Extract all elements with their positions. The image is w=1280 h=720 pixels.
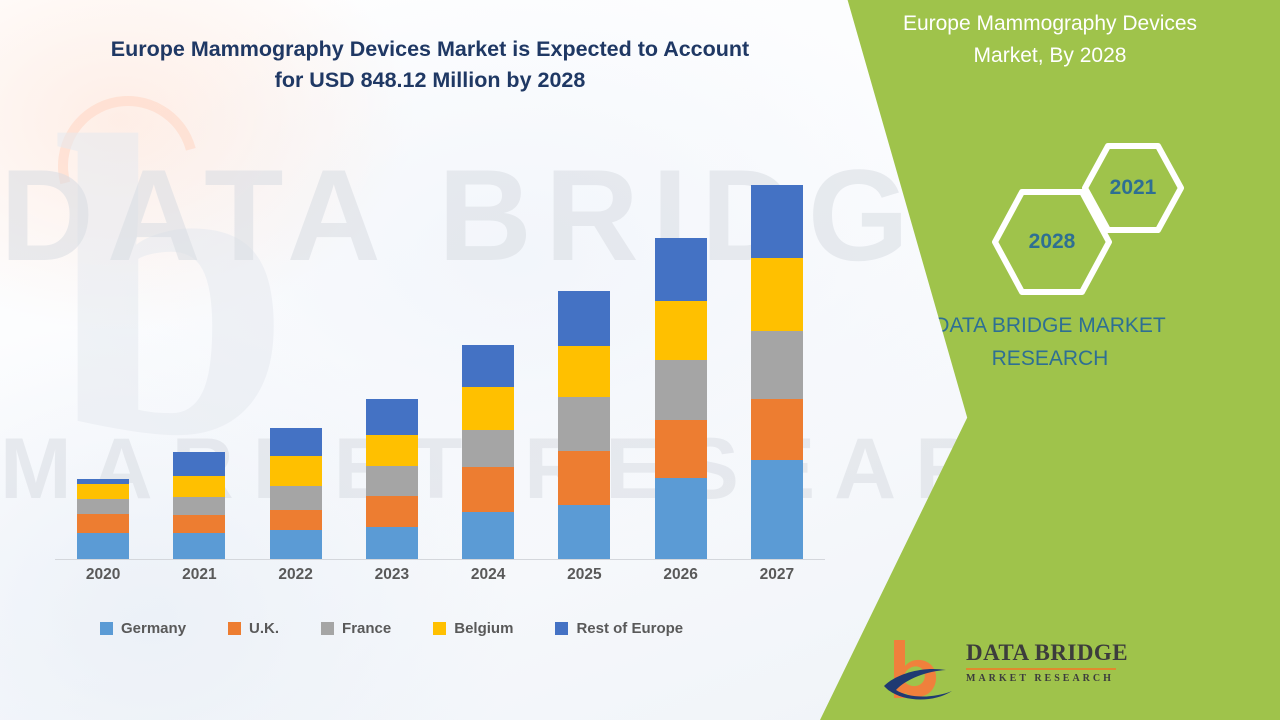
logo-wordmark: DATA BRIDGE MARKET RESEARCH (966, 640, 1116, 684)
bar-segment[interactable] (462, 387, 514, 430)
stacked-bar[interactable] (77, 479, 129, 559)
bar-slot (633, 151, 729, 559)
hexagon-badge-2028-label: 2028 (1029, 230, 1076, 254)
logo-sub-text: MARKET RESEARCH (966, 673, 1116, 684)
bar-segment[interactable] (558, 505, 610, 559)
bar-segment[interactable] (751, 460, 803, 559)
bar-segment[interactable] (270, 510, 322, 530)
x-axis-tick-2026: 2026 (633, 566, 729, 592)
bar-segment[interactable] (655, 301, 707, 360)
bar-segment[interactable] (366, 496, 418, 527)
bar-segment[interactable] (366, 435, 418, 466)
bar-segment[interactable] (270, 486, 322, 510)
legend-item-france[interactable]: France (321, 620, 391, 637)
bar-slot (536, 151, 632, 559)
logo-main-text: DATA BRIDGE (966, 640, 1116, 666)
bar-segment[interactable] (270, 428, 322, 456)
stacked-bar[interactable] (751, 185, 803, 559)
bar-segment[interactable] (173, 533, 225, 559)
bar-segment[interactable] (558, 451, 610, 505)
bar-segment[interactable] (77, 484, 129, 499)
bar-slot (151, 151, 247, 559)
bar-slot (440, 151, 536, 559)
bar-segment[interactable] (558, 397, 610, 451)
bar-segment[interactable] (751, 331, 803, 399)
stacked-bar[interactable] (558, 291, 610, 559)
panel-title-line-2: Market, By 2028 (848, 40, 1252, 72)
legend-label: France (342, 620, 391, 637)
bar-segment[interactable] (366, 527, 418, 559)
bar-segment[interactable] (655, 238, 707, 301)
stacked-bar[interactable] (366, 399, 418, 559)
chart-plot-area (55, 150, 825, 560)
bar-segment[interactable] (655, 478, 707, 559)
panel-title: Europe Mammography Devices Market, By 20… (820, 8, 1280, 71)
legend-item-rest-of-europe[interactable]: Rest of Europe (555, 620, 683, 637)
x-axis-tick-2025: 2025 (536, 566, 632, 592)
bar-segment[interactable] (270, 530, 322, 559)
hexagon-badge-2021-label: 2021 (1110, 176, 1157, 200)
bar-slot (55, 151, 151, 559)
legend-swatch-icon (321, 622, 334, 635)
legend-label: Belgium (454, 620, 513, 637)
bar-segment[interactable] (751, 258, 803, 331)
legend-item-u-k[interactable]: U.K. (228, 620, 279, 637)
stacked-bar[interactable] (173, 452, 225, 559)
stacked-bar[interactable] (655, 238, 707, 559)
x-axis-line (55, 559, 825, 561)
slide-canvas: b DATA BRIDGE MARKET RESEARCH Europe Mam… (0, 0, 1280, 720)
bar-segment[interactable] (173, 476, 225, 497)
bar-segment[interactable] (462, 512, 514, 559)
legend-label: Rest of Europe (576, 620, 683, 637)
panel-title-line-1: Europe Mammography Devices (848, 8, 1252, 40)
stacked-bar[interactable] (462, 345, 514, 559)
bar-slot (344, 151, 440, 559)
bar-segment[interactable] (173, 452, 225, 476)
bar-segment[interactable] (558, 291, 610, 346)
legend-swatch-icon (433, 622, 446, 635)
bar-segment[interactable] (751, 185, 803, 258)
bar-segment[interactable] (366, 466, 418, 496)
bar-segment[interactable] (655, 360, 707, 420)
bar-segment[interactable] (77, 514, 129, 533)
x-axis-tick-2023: 2023 (344, 566, 440, 592)
company-logo: DATA BRIDGE MARKET RESEARCH (880, 636, 1110, 708)
bar-segment[interactable] (462, 345, 514, 387)
legend-label: U.K. (249, 620, 279, 637)
x-axis-tick-2022: 2022 (248, 566, 344, 592)
bar-slot (729, 151, 825, 559)
legend-swatch-icon (555, 622, 568, 635)
x-axis-tick-2024: 2024 (440, 566, 536, 592)
chart-title: Europe Mammography Devices Market is Exp… (70, 34, 790, 96)
chart-title-line-1: Europe Mammography Devices Market is Exp… (70, 34, 790, 65)
bar-segment[interactable] (655, 420, 707, 478)
bar-segment[interactable] (173, 515, 225, 533)
legend-label: Germany (121, 620, 186, 637)
logo-mark-icon (880, 636, 964, 708)
chart-legend: GermanyU.K.FranceBelgiumRest of Europe (100, 616, 800, 640)
legend-swatch-icon (100, 622, 113, 635)
legend-swatch-icon (228, 622, 241, 635)
bar-segment[interactable] (751, 399, 803, 460)
bar-segment[interactable] (173, 497, 225, 515)
bar-segment[interactable] (558, 346, 610, 397)
bar-segment[interactable] (366, 399, 418, 435)
x-axis-tick-2021: 2021 (151, 566, 247, 592)
bar-segment[interactable] (77, 533, 129, 559)
chart-title-line-2: for USD 848.12 Million by 2028 (70, 65, 790, 96)
legend-item-germany[interactable]: Germany (100, 620, 186, 637)
x-axis-labels: 20202021202220232024202520262027 (55, 566, 825, 592)
x-axis-tick-2027: 2027 (729, 566, 825, 592)
bar-segment[interactable] (462, 430, 514, 467)
x-axis-tick-2020: 2020 (55, 566, 151, 592)
bar-segment[interactable] (462, 467, 514, 512)
logo-divider (966, 668, 1116, 670)
bar-segment[interactable] (77, 499, 129, 514)
legend-item-belgium[interactable]: Belgium (433, 620, 513, 637)
bar-group (55, 151, 825, 559)
hexagon-badge-2021: 2021 (1082, 142, 1184, 234)
stacked-bar[interactable] (270, 428, 322, 559)
bar-segment[interactable] (270, 456, 322, 486)
bar-slot (248, 151, 344, 559)
